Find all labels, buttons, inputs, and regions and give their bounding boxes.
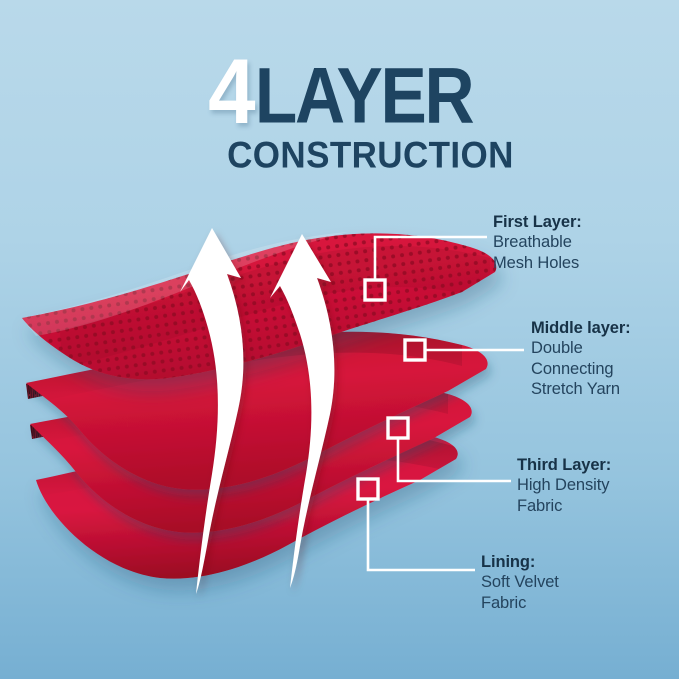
callout-middle-layer: Middle layer: Double Connecting Stretch …	[531, 318, 631, 399]
title-layer-count: 4	[208, 54, 254, 133]
title-word-layer: LAYER	[255, 60, 472, 133]
callout-first-layer-line2: Mesh Holes	[493, 253, 582, 273]
callout-first-layer: First Layer: Breathable Mesh Holes	[493, 212, 582, 273]
infographic-canvas: 4 LAYER CONSTRUCTION First Layer: Breath…	[0, 0, 679, 679]
callout-lining-line2: Fabric	[481, 593, 559, 613]
callout-lining-title: Lining:	[481, 552, 559, 572]
callout-lining: Lining: Soft Velvet Fabric	[481, 552, 559, 613]
callout-third-layer: Third Layer: High Density Fabric	[517, 455, 611, 516]
callout-first-layer-line1: Breathable	[493, 232, 582, 252]
callout-middle-layer-title: Middle layer:	[531, 318, 631, 338]
title-primary-row: 4 LAYER	[0, 62, 679, 133]
callout-first-layer-title: First Layer:	[493, 212, 582, 232]
callout-lining-line1: Soft Velvet	[481, 572, 559, 592]
callout-third-layer-title: Third Layer:	[517, 455, 611, 475]
title-word-construction: CONSTRUCTION	[0, 136, 679, 173]
callout-third-layer-line2: Fabric	[517, 496, 611, 516]
callout-middle-layer-line3: Stretch Yarn	[531, 379, 631, 399]
callout-middle-layer-line1: Double	[531, 338, 631, 358]
callout-third-layer-line1: High Density	[517, 475, 611, 495]
page-title: 4 LAYER CONSTRUCTION	[0, 62, 679, 173]
callout-middle-layer-line2: Connecting	[531, 359, 631, 379]
